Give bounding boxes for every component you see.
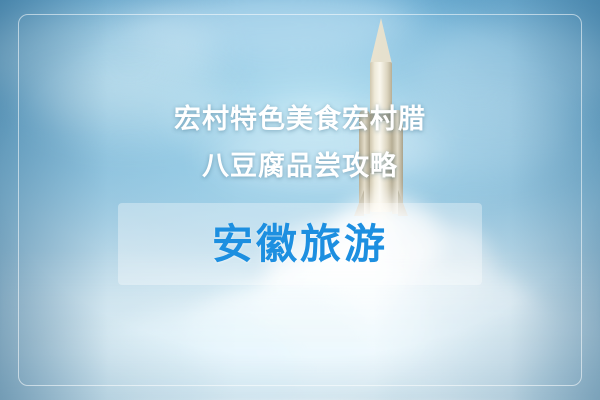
poster-title: 宏村特色美食宏村腊 八豆腐品尝攻略 xyxy=(150,96,450,190)
poster-subtitle: 安徽旅游 xyxy=(118,203,482,285)
poster-image: 宏村特色美食宏村腊 八豆腐品尝攻略 安徽旅游 xyxy=(0,0,600,400)
vignette xyxy=(0,0,600,400)
